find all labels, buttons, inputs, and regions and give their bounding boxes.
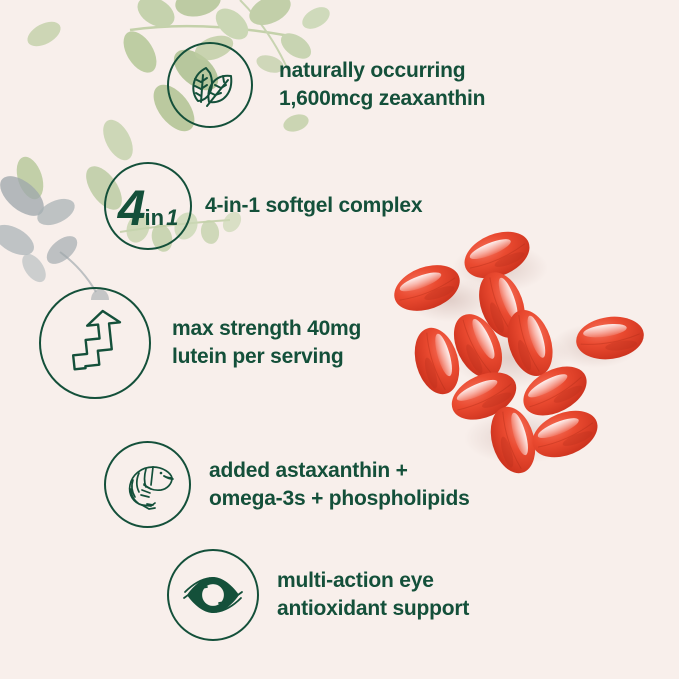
leaves-icon bbox=[179, 54, 241, 116]
feature-label-complex: 4-in-1 softgel complex bbox=[205, 192, 422, 220]
shrimp-badge bbox=[104, 441, 191, 528]
leaves-badge bbox=[167, 42, 253, 128]
upward-zigzag-arrow-icon bbox=[59, 307, 131, 379]
feature-row-astaxanthin: added astaxanthin + omega-3s + phospholi… bbox=[104, 441, 470, 528]
badge-in-text: in bbox=[145, 207, 165, 229]
feature-row-lutein: max strength 40mg lutein per serving bbox=[39, 287, 361, 399]
feature-label-zeaxanthin: naturally occurring 1,600mcg zeaxanthin bbox=[279, 57, 485, 113]
shrimp-icon bbox=[117, 454, 179, 516]
eye-badge bbox=[167, 549, 259, 641]
arrow-badge bbox=[39, 287, 151, 399]
badge-one: 1 bbox=[166, 207, 178, 229]
four-in-one-badge: 4 in 1 bbox=[104, 162, 192, 250]
feature-label-astaxanthin: added astaxanthin + omega-3s + phospholi… bbox=[209, 457, 470, 513]
eye-icon bbox=[180, 562, 246, 628]
badge-number: 4 bbox=[118, 183, 144, 233]
feature-label-lutein: max strength 40mg lutein per serving bbox=[172, 315, 361, 371]
feature-label-eye: multi-action eye antioxidant support bbox=[277, 567, 469, 623]
feature-row-complex: 4 in 1 4-in-1 softgel complex bbox=[104, 162, 422, 250]
infographic-canvas: naturally occurring 1,600mcg zeaxanthin … bbox=[0, 0, 679, 679]
feature-row-zeaxanthin: naturally occurring 1,600mcg zeaxanthin bbox=[167, 42, 485, 128]
feature-row-eye: multi-action eye antioxidant support bbox=[167, 549, 469, 641]
